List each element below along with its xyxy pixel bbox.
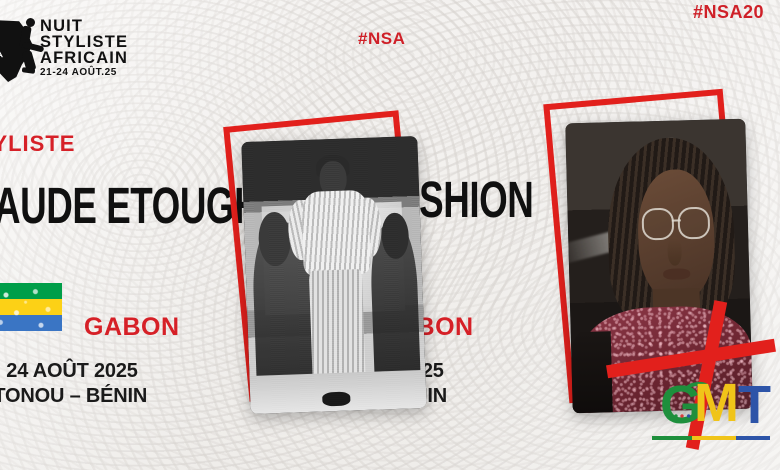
- hashtag-center: #NSA: [358, 29, 405, 49]
- logo-wordmark: NUIT STYLISTE AFRICAIN 21-24 AOÛT.25: [40, 18, 131, 78]
- slide1-date-line: au 24 AOÛT 2025: [0, 360, 138, 383]
- eyeglasses-lens-left-icon: [641, 208, 674, 241]
- gmt-bar-yellow: [692, 436, 736, 440]
- gmt-watermark-logo: G M T: [660, 378, 764, 450]
- gmt-bar-blue: [736, 436, 770, 440]
- gmt-letter-m: M: [694, 376, 739, 430]
- flag-sparkle-overlay: [0, 283, 62, 331]
- gabon-flag-icon: [0, 283, 62, 331]
- eyeglasses-bridge-icon: [672, 219, 681, 221]
- runway-photo-grain: [241, 136, 426, 414]
- gmt-letter-t: T: [738, 378, 771, 432]
- slide1-location-line: OTONOU – BÉNIN: [0, 385, 147, 408]
- nsa-logo: SA NUIT STYLISTE AFRICAIN 21-24 AOÛT.25: [0, 16, 116, 90]
- slide1-kicker: TYLISTE: [0, 131, 75, 157]
- runway-scene: [241, 136, 426, 414]
- hashtag-right: #NSA20: [693, 2, 764, 23]
- logo-dates: 21-24 AOÛT.25: [40, 68, 131, 78]
- gmt-dots-icon: [673, 412, 693, 420]
- slide1-country: GABON: [84, 313, 180, 342]
- portrait-nose: [667, 236, 682, 265]
- logo-line-africain: AFRICAIN: [40, 50, 128, 66]
- poster-canvas: SA NUIT STYLISTE AFRICAIN 21-24 AOÛT.25 …: [0, 0, 780, 470]
- runway-photo: [241, 136, 426, 414]
- eyeglasses-lens-right-icon: [677, 207, 710, 240]
- gmt-bar-green: [652, 436, 692, 440]
- figure-foot: [22, 67, 36, 74]
